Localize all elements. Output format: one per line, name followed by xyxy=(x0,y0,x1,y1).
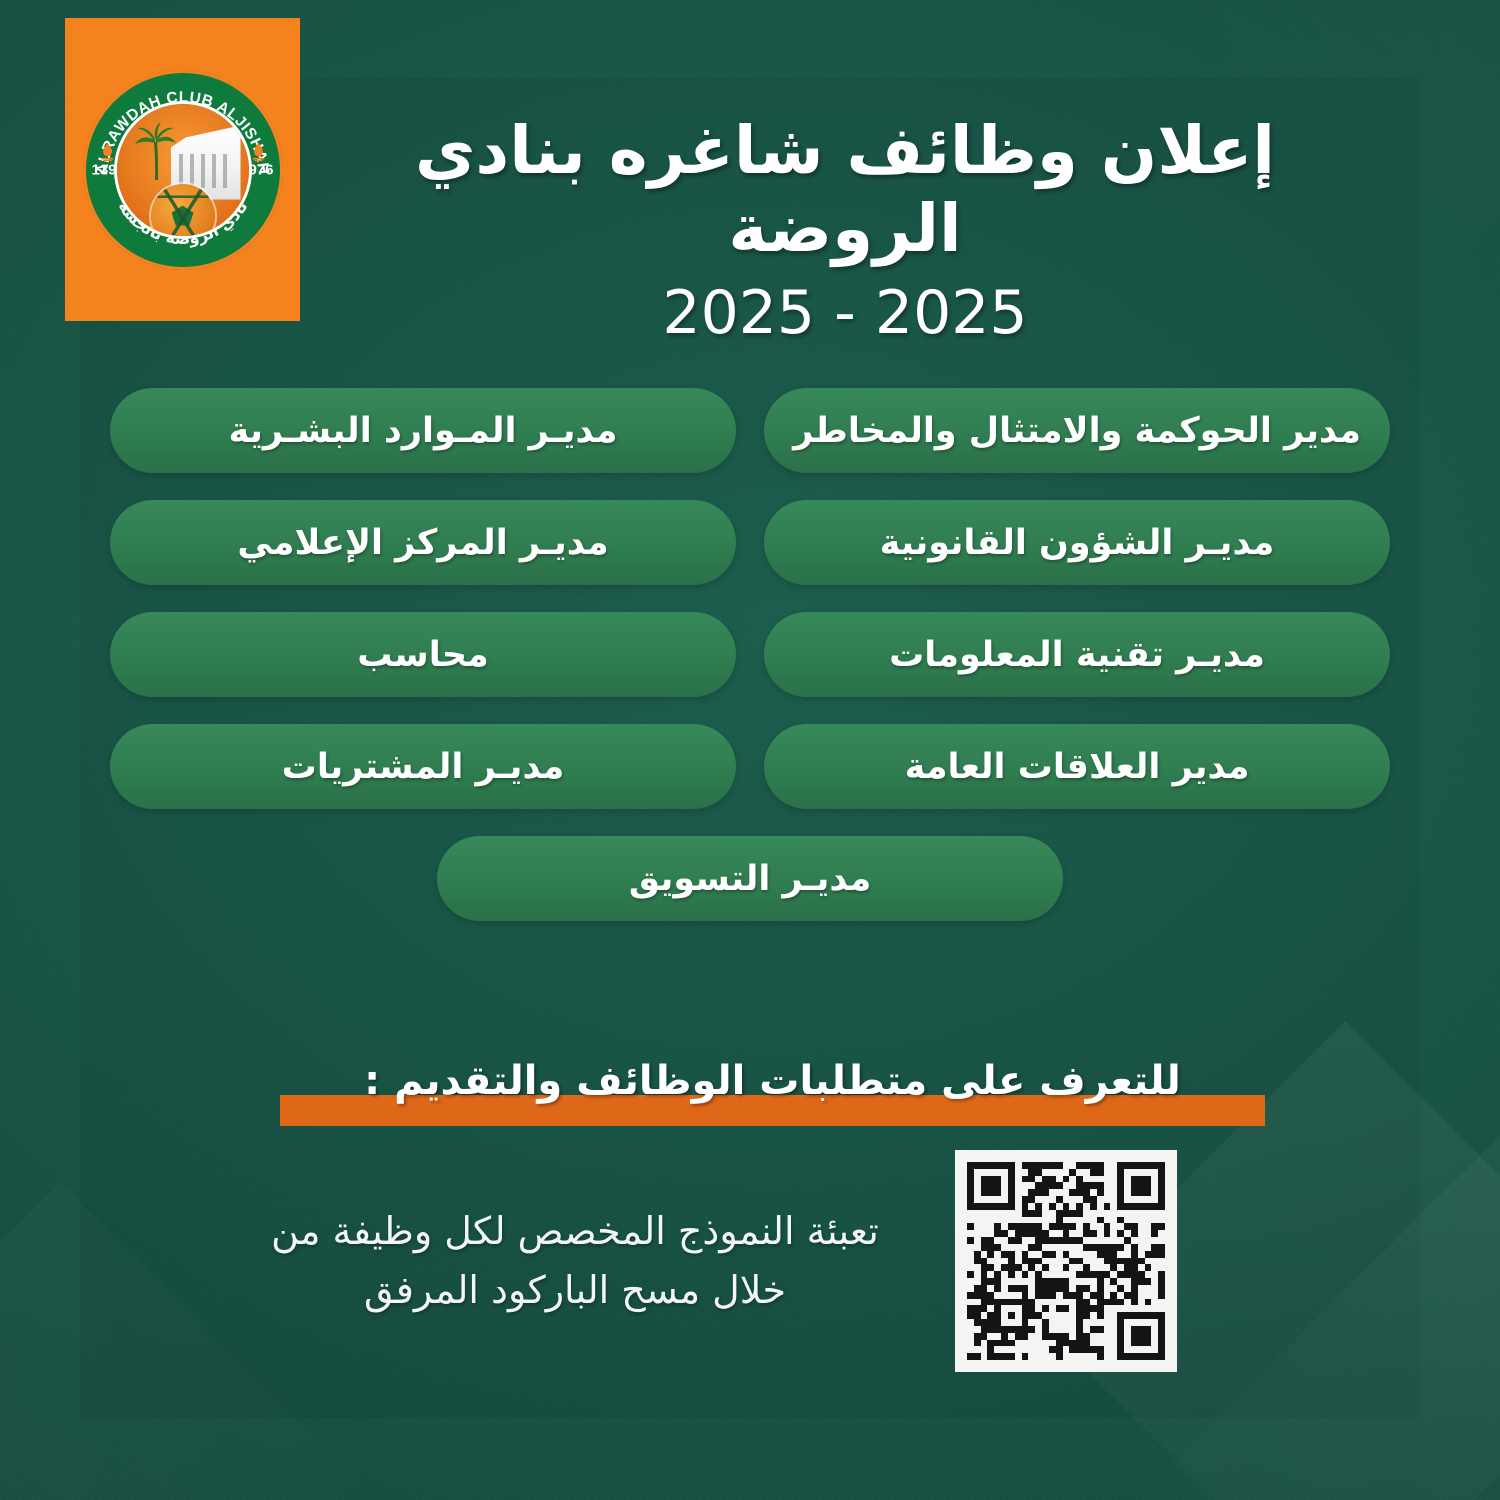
club-logo: ALRAWDAH CLUB ALJISHAH نادي الروضة بالجش… xyxy=(65,18,300,321)
page-title: إعلان وظائف شاغره بنادي الروضة 2025 - 20… xyxy=(330,112,1360,352)
headline-season: 2025 - 2025 xyxy=(330,274,1360,352)
job-pill[interactable]: مديـر المـوارد البشـرية xyxy=(110,388,736,473)
job-pill[interactable]: مدير الحوكمة والامتثال والمخاطر xyxy=(764,388,1390,473)
football-icon xyxy=(151,184,215,236)
poster-root: ALRAWDAH CLUB ALJISHAH نادي الروضة بالجش… xyxy=(0,0,1500,1500)
logo-circle: ALRAWDAH CLUB ALJISHAH نادي الروضة بالجش… xyxy=(83,70,283,270)
flame-emblem-left-icon xyxy=(99,142,116,162)
job-pill[interactable]: مديـر المشتريات xyxy=(110,724,736,809)
cta-heading-label: للتعرف على متطلبات الوظائف والتقديم : xyxy=(280,1058,1265,1104)
job-pill[interactable]: محاسب xyxy=(110,612,736,697)
job-pill[interactable]: مديـر الشؤون القانونية xyxy=(764,500,1390,585)
qr-code-matrix xyxy=(967,1162,1165,1360)
application-instructions: تعبئة النموذج المخصص لكل وظيفة من خلال م… xyxy=(255,1150,1265,1372)
palm-tree-icon xyxy=(133,122,177,184)
cta-heading: للتعرف على متطلبات الوظائف والتقديم : xyxy=(280,1058,1265,1132)
instruction-text: تعبئة النموذج المخصص لكل وظيفة من خلال م… xyxy=(255,1202,895,1320)
job-pill[interactable]: مدير العلاقات العامة xyxy=(764,724,1390,809)
qr-code[interactable] xyxy=(955,1150,1177,1372)
job-pill[interactable]: مديـر تقنية المعلومات xyxy=(764,612,1390,697)
logo-inner-scene xyxy=(117,104,249,236)
job-pill[interactable]: مديـر التسويق xyxy=(437,836,1063,921)
job-list: مدير الحوكمة والامتثال والمخاطر مديـر ال… xyxy=(110,388,1390,921)
headline-primary: إعلان وظائف شاغره بنادي الروضة xyxy=(330,112,1360,268)
flame-emblem-right-icon xyxy=(250,142,267,162)
job-pill[interactable]: مديـر المركز الإعلامي xyxy=(110,500,736,585)
